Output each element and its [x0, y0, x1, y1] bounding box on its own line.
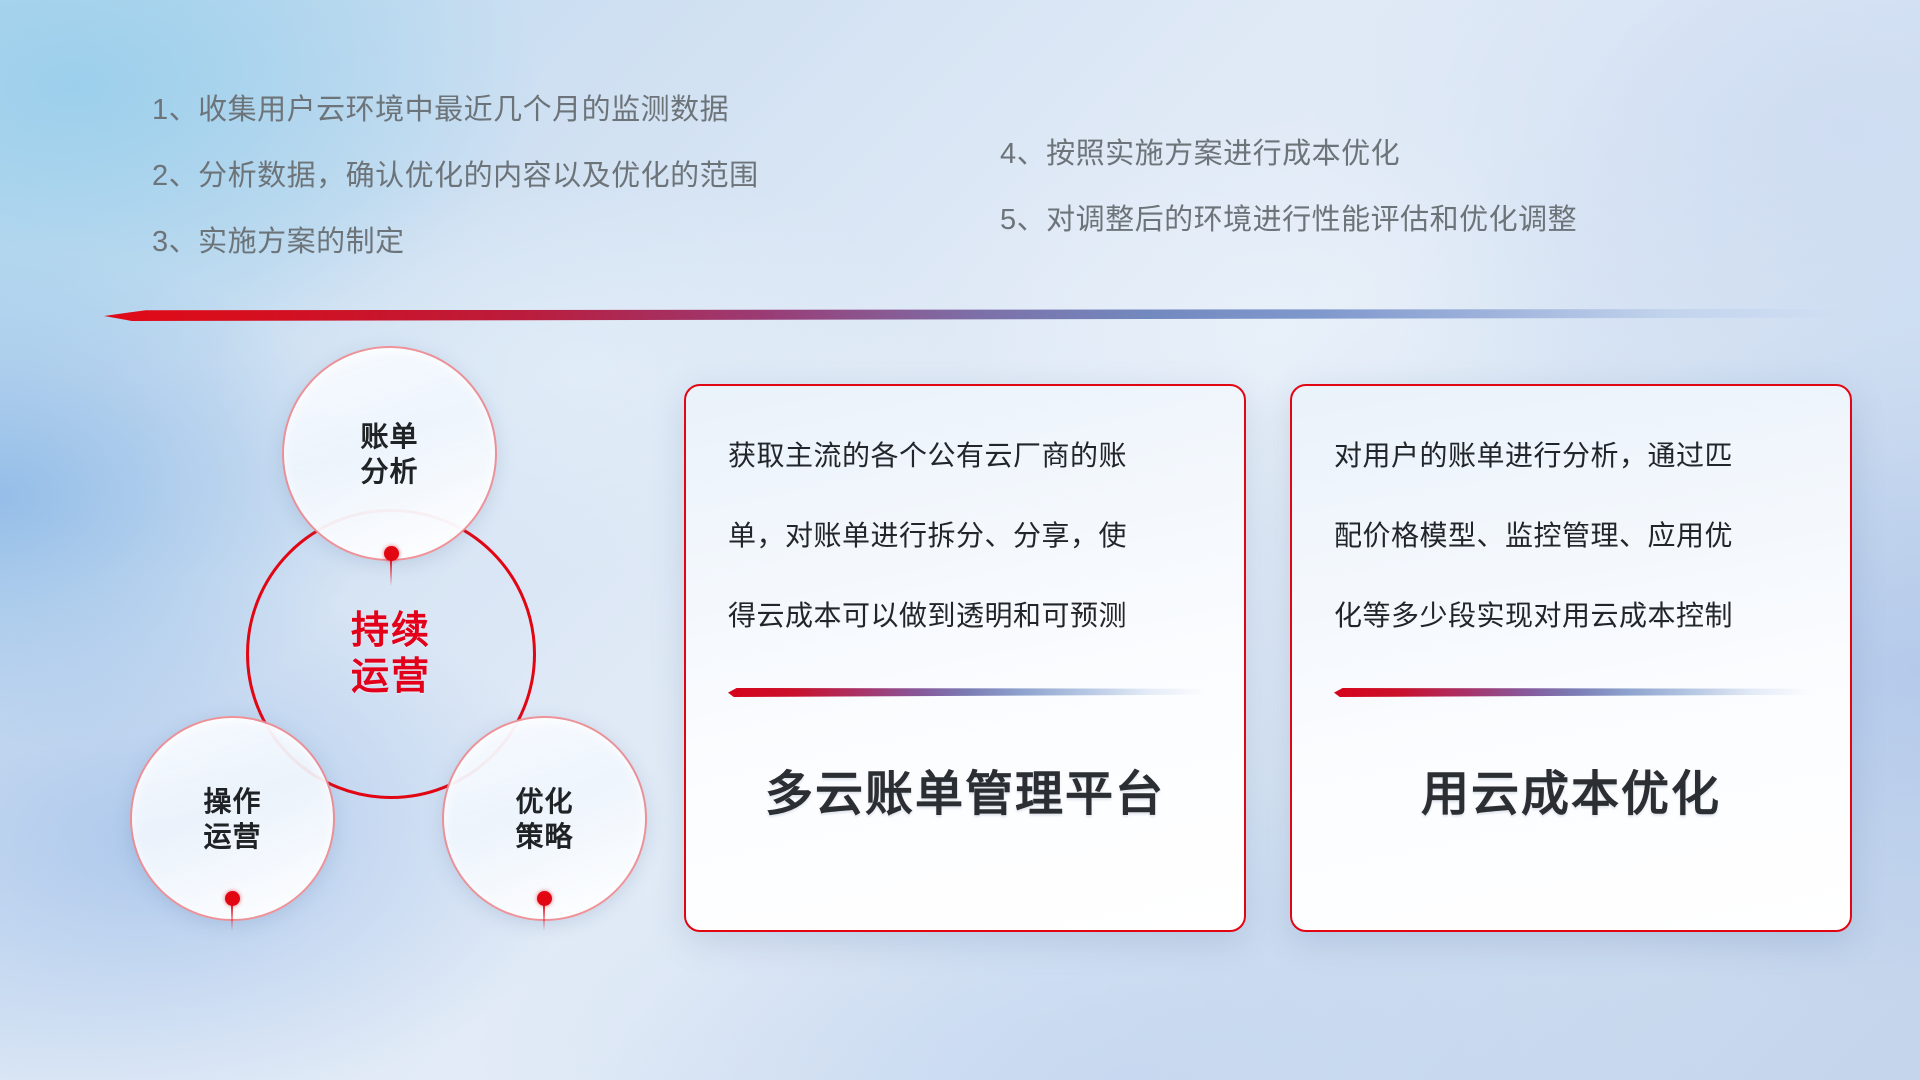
step-item-2: 2、分析数据，确认优化的内容以及优化的范围	[152, 162, 759, 191]
step-item-5: 5、对调整后的环境进行性能评估和优化调整	[1000, 206, 1577, 235]
venn-bubble-top-line2: 分析	[360, 454, 418, 489]
section-divider-gradient	[104, 309, 1844, 321]
card-1-divider	[728, 688, 1206, 697]
step-item-1: 1、收集用户云环境中最近几个月的监测数据	[152, 96, 759, 125]
venn-bubble-top-line1: 账单	[360, 419, 418, 454]
venn-node-dot-bottom-left	[225, 891, 240, 906]
card-2-divider	[1334, 688, 1812, 697]
card-1-body: 获取主流的各个公有云厂商的账 单，对账单进行拆分、分享，使 得云成本可以做到透明…	[728, 442, 1204, 682]
venn-node-tail-bottom-left	[231, 903, 233, 931]
steps-right-column: 4、按照实施方案进行成本优化 5、对调整后的环境进行性能评估和优化调整	[1000, 140, 1577, 272]
venn-bubble-optimization-strategy-label: 优化 策略	[515, 784, 573, 854]
card-cloud-cost-optimization[interactable]: 对用户的账单进行分析，通过匹 配价格模型、监控管理、应用优 化等多少段实现对用云…	[1290, 384, 1852, 932]
venn-center-label-line1: 持续	[351, 608, 431, 654]
card-1-line-1: 获取主流的各个公有云厂商的账	[728, 442, 1204, 470]
venn-bubble-operation-label: 操作 运营	[203, 784, 261, 854]
venn-node-dot-bottom-right	[537, 891, 552, 906]
venn-bubble-left-line1: 操作	[203, 784, 261, 819]
card-1-line-2: 单，对账单进行拆分、分享，使	[728, 522, 1204, 550]
venn-center-label-line2: 运营	[351, 654, 431, 700]
section-divider-rule	[104, 309, 1844, 321]
card-2-line-3: 化等多少段实现对用云成本控制	[1334, 602, 1810, 630]
card-1-line-3: 得云成本可以做到透明和可预测	[728, 602, 1204, 630]
card-2-title: 用云成本优化	[1292, 754, 1850, 824]
venn-node-dot-top	[384, 546, 399, 561]
continuous-operation-venn-diagram: 持续 运营 账单 分析 操作 运营 优化 策略	[96, 346, 616, 946]
venn-bubble-right-line1: 优化	[515, 784, 573, 819]
venn-node-tail-top	[390, 558, 392, 586]
venn-node-tail-bottom-right	[543, 903, 545, 931]
steps-section: 1、收集用户云环境中最近几个月的监测数据 2、分析数据，确认优化的内容以及优化的…	[0, 96, 1920, 276]
step-item-3: 3、实施方案的制定	[152, 228, 759, 257]
venn-bubble-bill-analysis[interactable]: 账单 分析	[282, 346, 497, 561]
venn-bubble-right-line2: 策略	[515, 819, 573, 854]
card-2-body: 对用户的账单进行分析，通过匹 配价格模型、监控管理、应用优 化等多少段实现对用云…	[1334, 442, 1810, 682]
venn-center-label: 持续 运营	[351, 608, 431, 701]
venn-bubble-left-line2: 运营	[203, 819, 261, 854]
steps-left-column: 1、收集用户云环境中最近几个月的监测数据 2、分析数据，确认优化的内容以及优化的…	[152, 96, 759, 294]
step-item-4: 4、按照实施方案进行成本优化	[1000, 140, 1577, 169]
card-multicloud-billing-platform[interactable]: 获取主流的各个公有云厂商的账 单，对账单进行拆分、分享，使 得云成本可以做到透明…	[684, 384, 1246, 932]
card-1-title: 多云账单管理平台	[686, 754, 1244, 824]
card-2-line-2: 配价格模型、监控管理、应用优	[1334, 522, 1810, 550]
card-2-line-1: 对用户的账单进行分析，通过匹	[1334, 442, 1810, 470]
venn-bubble-bill-analysis-label: 账单 分析	[360, 419, 418, 489]
